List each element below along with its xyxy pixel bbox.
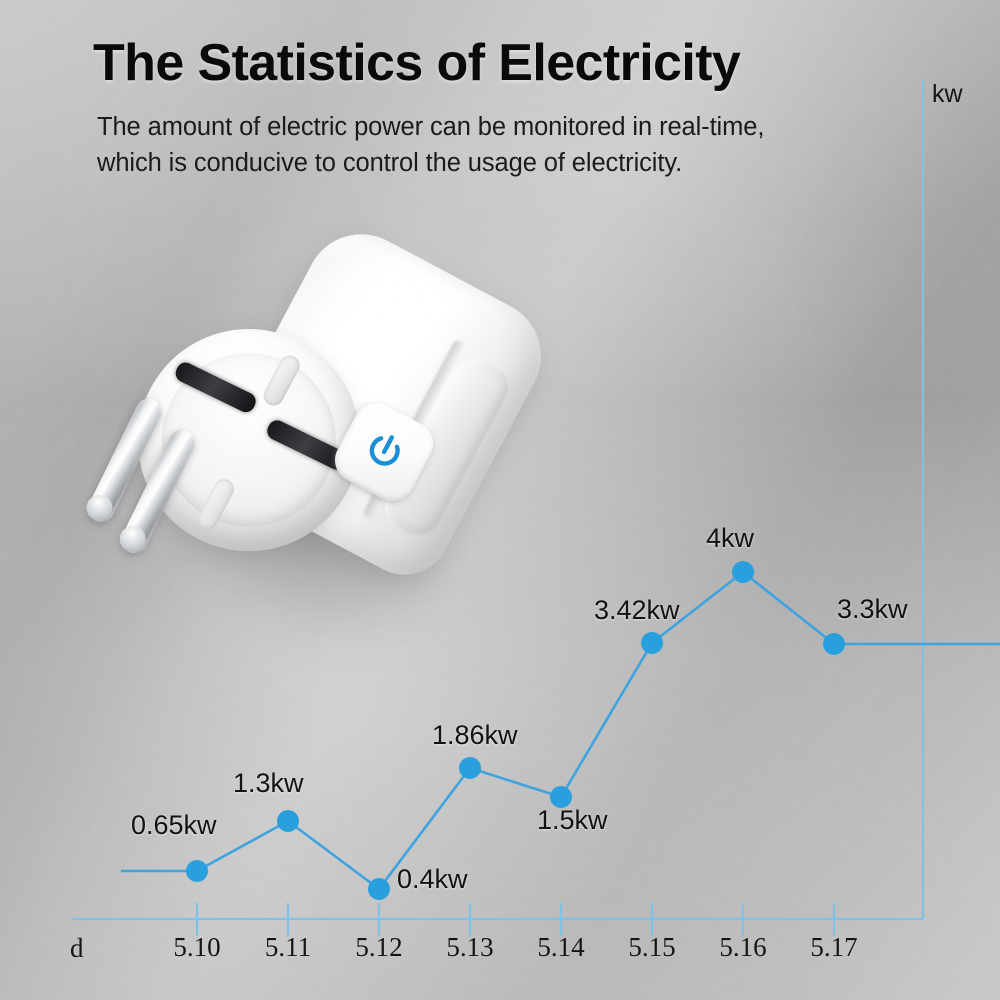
x-tick-label-5-11: 5.11 bbox=[265, 932, 311, 963]
x-tick-label-5-10: 5.10 bbox=[173, 932, 220, 963]
data-point-5-10[interactable] bbox=[186, 860, 208, 882]
infographic-canvas: The Statistics of Electricity The amount… bbox=[0, 0, 1000, 1000]
x-axis-unit-label: d bbox=[70, 933, 84, 964]
data-point-5-12[interactable] bbox=[368, 878, 390, 900]
data-label-5-15: 3.42kw bbox=[594, 595, 680, 626]
x-tick-label-5-17: 5.17 bbox=[810, 932, 857, 963]
data-point-5-13[interactable] bbox=[459, 757, 481, 779]
data-label-5-17: 3.3kw bbox=[837, 594, 908, 625]
x-tick-label-5-16: 5.16 bbox=[719, 932, 766, 963]
electricity-line-chart bbox=[0, 0, 1000, 1000]
x-tick-label-5-15: 5.15 bbox=[628, 932, 675, 963]
data-point-5-17[interactable] bbox=[823, 633, 845, 655]
data-point-5-15[interactable] bbox=[641, 632, 663, 654]
y-axis-unit-label: kw bbox=[932, 80, 963, 109]
data-label-5-16: 4kw bbox=[706, 523, 754, 554]
data-label-5-12: 0.4kw bbox=[397, 864, 468, 895]
data-label-5-14: 1.5kw bbox=[537, 805, 608, 836]
x-tick-label-5-14: 5.14 bbox=[537, 932, 584, 963]
data-point-5-16[interactable] bbox=[732, 561, 754, 583]
data-label-5-13: 1.86kw bbox=[432, 720, 518, 751]
x-tick-label-5-13: 5.13 bbox=[446, 932, 493, 963]
data-label-5-10: 0.65kw bbox=[131, 810, 217, 841]
data-point-5-11[interactable] bbox=[277, 810, 299, 832]
x-tick-label-5-12: 5.12 bbox=[355, 932, 402, 963]
data-label-5-11: 1.3kw bbox=[233, 768, 304, 799]
